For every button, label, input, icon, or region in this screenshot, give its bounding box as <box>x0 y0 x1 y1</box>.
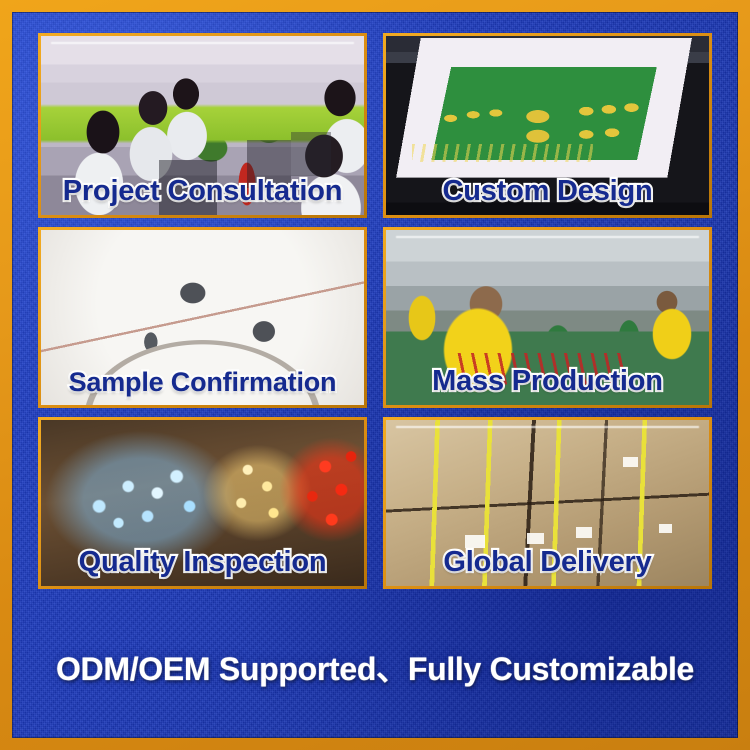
poster-canvas: Project Consultation Custom Design Sampl… <box>12 12 738 738</box>
card-global-delivery[interactable]: Global Delivery <box>383 417 712 589</box>
card-sample-confirmation[interactable]: Sample Confirmation <box>38 227 367 408</box>
card-custom-design[interactable]: Custom Design <box>383 33 712 218</box>
card-project-consultation[interactable]: Project Consultation <box>38 33 367 218</box>
photo-stacked-cartons-in-warehouse <box>386 420 709 586</box>
photo-highlight-streak <box>51 42 355 44</box>
photo-lit-led-pixel-modules <box>41 420 364 586</box>
process-card-grid: Project Consultation Custom Design Sampl… <box>38 33 712 589</box>
bottom-banner: ODM/OEM Supported、Fully Customizable <box>12 612 738 722</box>
card-mass-production[interactable]: Mass Production <box>383 227 712 408</box>
photo-factory-assembly-line-workers <box>386 230 709 405</box>
card-quality-inspection[interactable]: Quality Inspection <box>38 417 367 589</box>
photo-pcb-layout-on-monitor <box>386 36 709 215</box>
photo-office-team-at-desks <box>41 36 364 215</box>
photo-highlight-streak <box>396 236 700 238</box>
poster: Project Consultation Custom Design Sampl… <box>0 0 750 750</box>
photo-led-cable-sample-on-white <box>41 230 364 405</box>
photo-highlight-streak <box>396 426 700 428</box>
banner-tagline: ODM/OEM Supported、Fully Customizable <box>56 644 694 690</box>
